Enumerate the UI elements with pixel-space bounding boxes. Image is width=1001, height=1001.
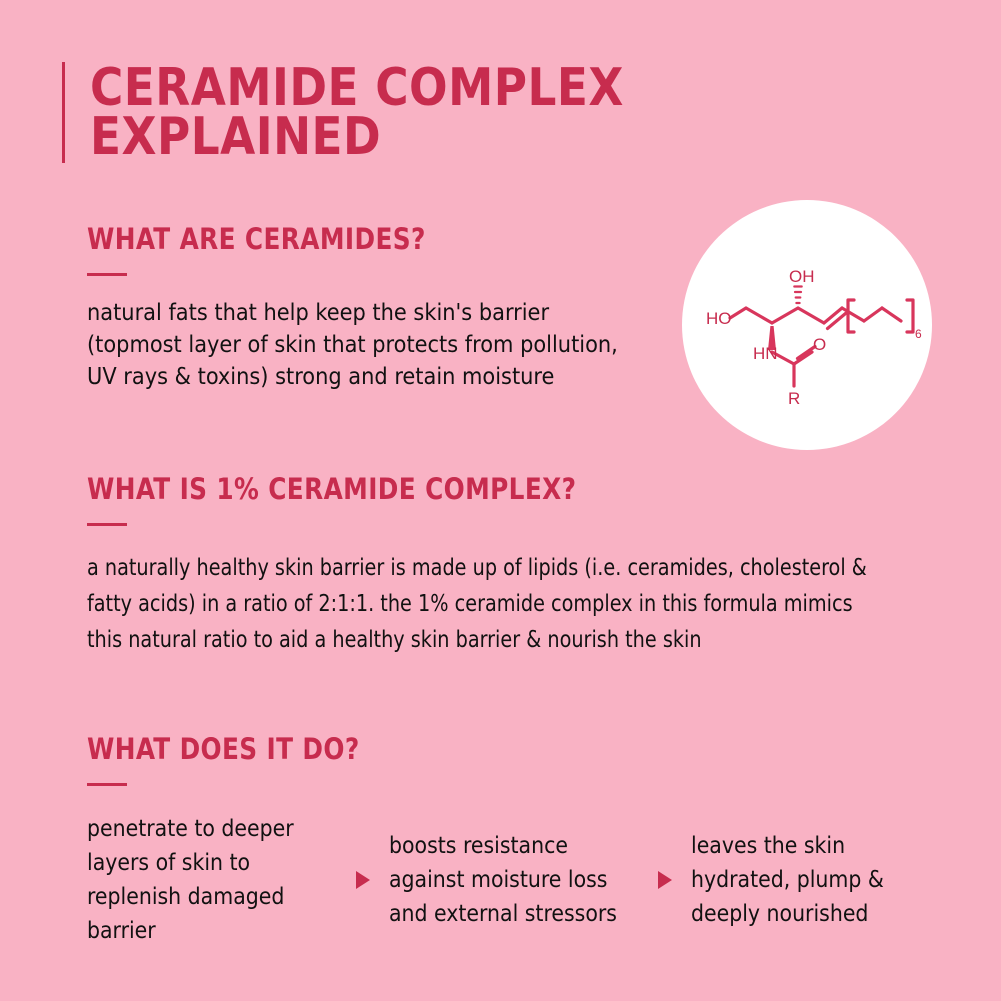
title-accent-bar — [62, 62, 65, 163]
section-divider — [87, 783, 127, 786]
section-what-is-1-percent-ceramide-complex: WHAT IS 1% CERAMIDE COMPLEX? a naturally… — [87, 472, 947, 658]
page-title-block: CERAMIDE COMPLEX EXPLAINED — [62, 62, 640, 163]
page-title: CERAMIDE COMPLEX EXPLAINED — [90, 62, 624, 163]
section-divider — [87, 523, 127, 526]
benefit-item: boosts resistance against moisture loss … — [389, 829, 637, 931]
section-heading: WHAT IS 1% CERAMIDE COMPLEX? — [87, 472, 904, 506]
section-what-does-it-do: WHAT DOES IT DO? penetrate to deeper lay… — [87, 732, 917, 948]
ceramide-molecule-diagram: HO OH HN O R 6 — [682, 200, 932, 450]
benefit-columns: penetrate to deeper layers of skin to re… — [87, 812, 917, 948]
molecule-label-r: R — [788, 389, 800, 408]
molecule-label-ho: HO — [706, 309, 732, 328]
benefit-item: penetrate to deeper layers of skin to re… — [87, 812, 335, 948]
section-what-are-ceramides: WHAT ARE CERAMIDES? natural fats that he… — [87, 222, 632, 392]
arrow-right-icon — [337, 871, 389, 889]
molecule-label-subscript-6: 6 — [915, 327, 922, 341]
molecule-label-o: O — [813, 335, 826, 354]
molecule-label-hn: HN — [753, 344, 778, 363]
section-body: natural fats that help keep the skin's b… — [87, 296, 627, 392]
section-body: a naturally healthy skin barrier is made… — [87, 550, 887, 658]
section-heading: WHAT DOES IT DO? — [87, 732, 876, 766]
arrow-right-icon — [639, 871, 691, 889]
benefit-item: leaves the skin hydrated, plump & deeply… — [691, 829, 939, 931]
section-heading: WHAT ARE CERAMIDES? — [87, 222, 605, 256]
section-divider — [87, 273, 127, 276]
molecule-label-oh: OH — [789, 267, 815, 286]
ceramide-structure-svg: HO OH HN O R 6 — [682, 200, 932, 450]
